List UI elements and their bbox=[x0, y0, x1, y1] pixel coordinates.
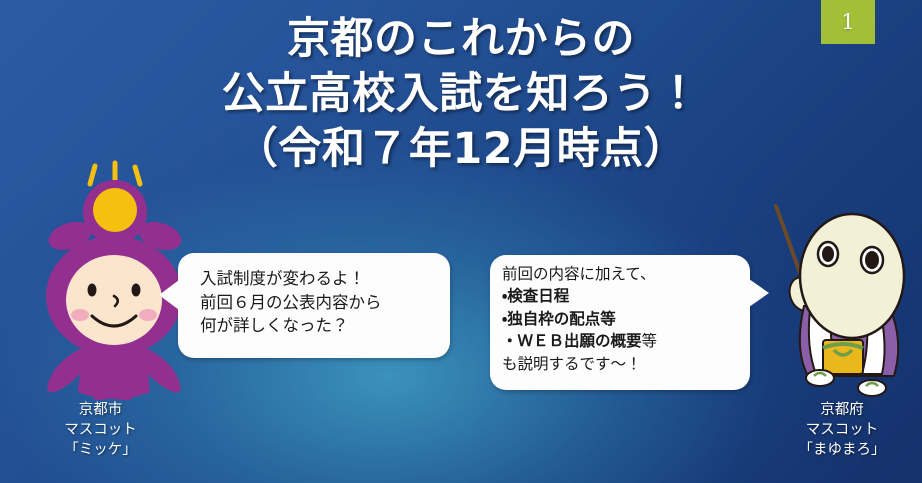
answer-bullet-3: ・ＷＥＢ出願の概要等 bbox=[502, 330, 750, 352]
answer-bullet-1: ・検査日程 bbox=[502, 285, 750, 307]
answer-bullet-2: ・独自枠の配点等 bbox=[502, 308, 750, 330]
answer-bullet-3-suffix: 等 bbox=[642, 332, 658, 350]
answer-bullet-2-text: ・独自枠の配点等 bbox=[502, 310, 616, 328]
title-line-2: 公立高校入試を知ろう！ bbox=[0, 67, 922, 122]
mayumaro-caption-line-3: 「まゆまろ」 bbox=[762, 440, 922, 460]
question-speech-bubble: 入試制度が変わるよ！ 前回６月の公表内容から 何が詳しくなった？ bbox=[178, 253, 450, 358]
answer-bullet-3-text: ・ＷＥＢ出願の概要 bbox=[502, 332, 642, 350]
bubble-tail-left-icon bbox=[159, 280, 179, 310]
question-line-2: 前回６月の公表内容から bbox=[200, 291, 450, 315]
answer-line-1: 前回の内容に加えて、 bbox=[502, 263, 750, 285]
answer-speech-bubble: 前回の内容に加えて、 ・検査日程 ・独自枠の配点等 ・ＷＥＢ出願の概要等 も説明… bbox=[490, 255, 750, 390]
answer-bullet-1-text: ・検査日程 bbox=[502, 287, 569, 305]
mascot-mayumaro-illustration bbox=[768, 198, 918, 398]
mayumaro-caption-line-1: 京都府 bbox=[762, 400, 922, 420]
answer-line-5: も説明するです～！ bbox=[502, 353, 750, 375]
mascot-mikke-illustration bbox=[22, 150, 194, 400]
mikke-caption-line-3: 「ミッケ」 bbox=[18, 440, 183, 460]
mikke-caption-line-1: 京都市 bbox=[18, 400, 183, 420]
title-line-1: 京都のこれからの bbox=[0, 12, 922, 67]
question-line-3: 何が詳しくなった？ bbox=[200, 314, 450, 338]
mikke-caption-line-2: マスコット bbox=[18, 420, 183, 440]
mayumaro-caption-line-2: マスコット bbox=[762, 420, 922, 440]
question-line-1: 入試制度が変わるよ！ bbox=[200, 267, 450, 291]
mascot-mikke-caption: 京都市 マスコット 「ミッケ」 bbox=[18, 400, 183, 460]
bubble-tail-right-icon bbox=[749, 279, 769, 307]
slide-canvas: 1 京都のこれからの 公立高校入試を知ろう！ （令和７年12月時点） bbox=[0, 0, 922, 483]
mascot-mayumaro-caption: 京都府 マスコット 「まゆまろ」 bbox=[762, 400, 922, 460]
